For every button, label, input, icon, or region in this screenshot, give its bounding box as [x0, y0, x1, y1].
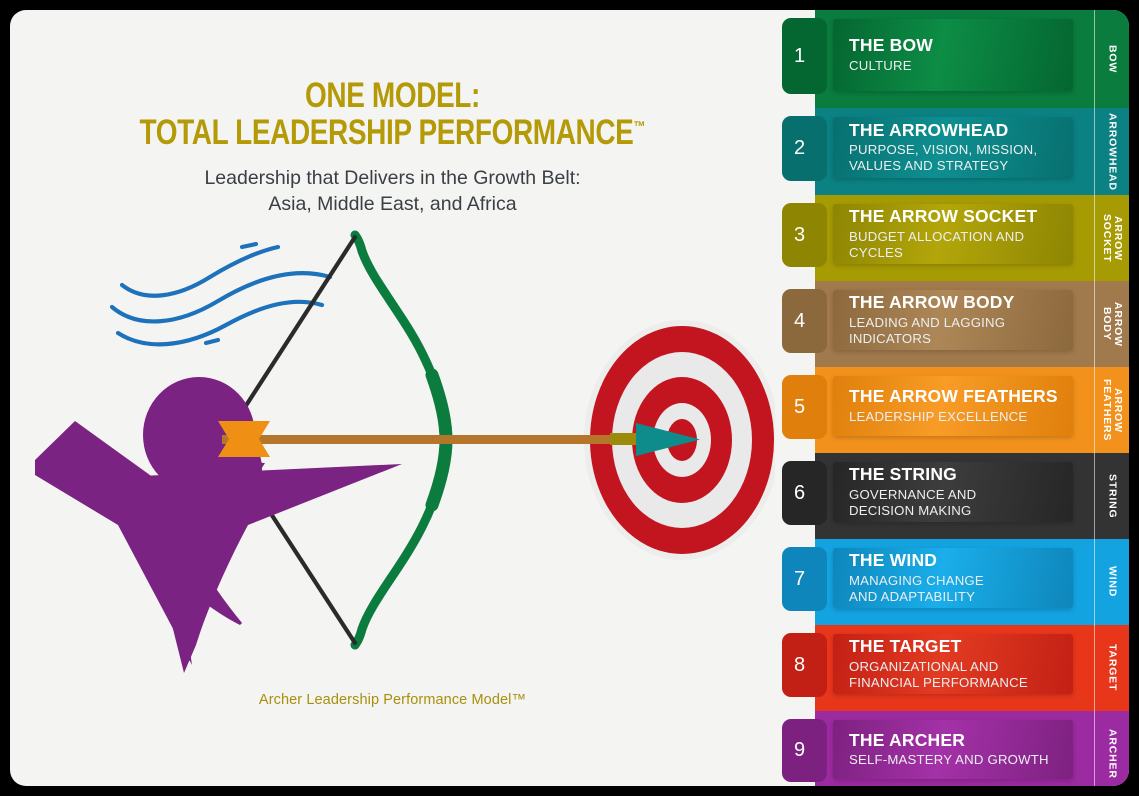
legend-number-label: 5: [794, 396, 805, 419]
legend-number-badge[interactable]: 3: [782, 203, 827, 267]
archer-illustration-svg: [10, 225, 775, 675]
legend-row[interactable]: 6THE STRINGGOVERNANCE ANDDECISION MAKING…: [815, 453, 1129, 539]
legend-text-panel: THE ARROW SOCKETBUDGET ALLOCATION AND CY…: [833, 204, 1073, 264]
legend-number-label: 4: [794, 310, 805, 333]
archer-illustration: [10, 225, 775, 675]
legend-side-label-text: ARCHER: [1106, 729, 1117, 779]
legend-text-panel: THE WINDMANAGING CHANGEAND ADAPTABILITY: [833, 548, 1073, 608]
legend-number-label: 6: [794, 482, 805, 505]
legend-side-label-text: WIND: [1106, 566, 1117, 597]
legend-number-label: 2: [794, 137, 805, 160]
legend-item-subtitle-line: LEADERSHIP EXCELLENCE: [849, 409, 1073, 425]
legend-side-label-text: ARROW FEATHERS: [1101, 379, 1123, 441]
legend-text-panel: THE TARGETORGANIZATIONAL ANDFINANCIAL PE…: [833, 634, 1073, 694]
illustration-pane: ONE MODEL: TOTAL LEADERSHIP PERFORMANCE™…: [10, 10, 775, 786]
legend-item-subtitle-line: VALUES AND STRATEGY: [849, 158, 1073, 174]
subtitle-line-one: Leadership that Delivers in the Growth B…: [10, 165, 775, 191]
legend-number-label: 7: [794, 568, 805, 591]
footer-caption: Archer Leadership Performance Model™: [10, 692, 775, 708]
legend-item-title: THE ARROW BODY: [849, 293, 1073, 313]
legend-item-subtitle-line: DECISION MAKING: [849, 503, 1073, 519]
legend-text-panel: THE ARROWHEADPURPOSE, VISION, MISSION,VA…: [833, 117, 1073, 178]
legend-row[interactable]: 4THE ARROW BODYLEADING AND LAGGING INDIC…: [815, 281, 1129, 367]
legend-item-title: THE ARROWHEAD: [849, 121, 1073, 141]
legend-number-label: 1: [794, 45, 805, 68]
legend-item-subtitle-line: FINANCIAL PERFORMANCE: [849, 675, 1073, 691]
legend-item-subtitle-line: CULTURE: [849, 58, 1073, 74]
legend-number-label: 3: [794, 224, 805, 247]
legend-row[interactable]: 2THE ARROWHEADPURPOSE, VISION, MISSION,V…: [815, 108, 1129, 195]
legend-number-badge[interactable]: 9: [782, 719, 827, 782]
legend-number-badge[interactable]: 8: [782, 633, 827, 697]
legend-item-title: THE TARGET: [849, 637, 1073, 657]
legend-text-panel: THE STRINGGOVERNANCE ANDDECISION MAKING: [833, 462, 1073, 522]
legend-side-label: ARROW SOCKET: [1095, 195, 1129, 281]
legend-item-subtitle: LEADING AND LAGGING INDICATORS: [849, 315, 1073, 347]
legend-side-label: BOW: [1095, 10, 1129, 108]
legend-side-label: ARROW BODY: [1095, 281, 1129, 367]
legend-side-label: TARGET: [1095, 625, 1129, 711]
legend-side-label-text: ARROWHEAD: [1106, 113, 1117, 191]
legend-item-subtitle-line: LEADING AND LAGGING INDICATORS: [849, 315, 1073, 347]
legend-item-subtitle-line: AND ADAPTABILITY: [849, 589, 1073, 605]
legend-item-subtitle: MANAGING CHANGEAND ADAPTABILITY: [849, 573, 1073, 605]
legend-number-label: 8: [794, 654, 805, 677]
subtitle-line-two: Asia, Middle East, and Africa: [10, 191, 775, 217]
legend-text-panel: THE BOWCULTURE: [833, 19, 1073, 91]
infographic-card: ONE MODEL: TOTAL LEADERSHIP PERFORMANCE™…: [10, 10, 1129, 786]
legend-number-badge[interactable]: 2: [782, 116, 827, 181]
legend-side-label: STRING: [1095, 453, 1129, 539]
legend-row[interactable]: 7THE WINDMANAGING CHANGEAND ADAPTABILITY…: [815, 539, 1129, 625]
legend-item-subtitle: LEADERSHIP EXCELLENCE: [849, 409, 1073, 425]
legend-number-badge[interactable]: 4: [782, 289, 827, 353]
legend-item-subtitle: CULTURE: [849, 58, 1073, 74]
legend-panel: 1THE BOWCULTUREBOW2THE ARROWHEADPURPOSE,…: [815, 10, 1129, 786]
title-line-one: ONE MODEL:: [87, 78, 699, 115]
page-subtitle: Leadership that Delivers in the Growth B…: [10, 165, 775, 218]
legend-side-label: WIND: [1095, 539, 1129, 625]
legend-item-title: THE ARROW FEATHERS: [849, 387, 1073, 407]
legend-item-subtitle-line: SELF-MASTERY AND GROWTH: [849, 752, 1073, 768]
legend-side-label: ARROW FEATHERS: [1095, 367, 1129, 453]
legend-item-subtitle-line: MANAGING CHANGE: [849, 573, 1073, 589]
legend-side-label-text: STRING: [1106, 474, 1117, 518]
legend-side-label-text: TARGET: [1106, 644, 1117, 691]
legend-row[interactable]: 8THE TARGETORGANIZATIONAL ANDFINANCIAL P…: [815, 625, 1129, 711]
legend-row[interactable]: 1THE BOWCULTUREBOW: [815, 10, 1129, 108]
legend-number-badge[interactable]: 7: [782, 547, 827, 611]
legend-item-title: THE WIND: [849, 551, 1073, 571]
legend-text-panel: THE ARROW FEATHERSLEADERSHIP EXCELLENCE: [833, 376, 1073, 436]
legend-item-title: THE ARROW SOCKET: [849, 207, 1073, 227]
legend-row[interactable]: 9THE ARCHERSELF-MASTERY AND GROWTHARCHER: [815, 711, 1129, 786]
legend-item-title: THE ARCHER: [849, 731, 1073, 751]
legend-item-subtitle-line: BUDGET ALLOCATION AND CYCLES: [849, 229, 1073, 261]
legend-item-subtitle: PURPOSE, VISION, MISSION,VALUES AND STRA…: [849, 142, 1073, 174]
legend-side-label-text: BOW: [1106, 45, 1117, 73]
legend-side-label-text: ARROW SOCKET: [1101, 214, 1123, 263]
infographic-canvas: ONE MODEL: TOTAL LEADERSHIP PERFORMANCE™…: [0, 0, 1139, 796]
legend-number-badge[interactable]: 1: [782, 18, 827, 94]
legend-item-subtitle-line: ORGANIZATIONAL AND: [849, 659, 1073, 675]
title-line-two: TOTAL LEADERSHIP PERFORMANCE™: [87, 115, 699, 152]
legend-item-subtitle: SELF-MASTERY AND GROWTH: [849, 752, 1073, 768]
legend-row[interactable]: 5THE ARROW FEATHERSLEADERSHIP EXCELLENCE…: [815, 367, 1129, 453]
legend-number-badge[interactable]: 6: [782, 461, 827, 525]
legend-text-panel: THE ARROW BODYLEADING AND LAGGING INDICA…: [833, 290, 1073, 350]
legend-number-badge[interactable]: 5: [782, 375, 827, 439]
legend-side-label: ARCHER: [1095, 711, 1129, 786]
legend-item-subtitle: BUDGET ALLOCATION AND CYCLES: [849, 229, 1073, 261]
title-trademark: ™: [633, 118, 645, 135]
legend-item-title: THE BOW: [849, 36, 1073, 56]
legend-item-subtitle: GOVERNANCE ANDDECISION MAKING: [849, 487, 1073, 519]
legend-item-subtitle-line: PURPOSE, VISION, MISSION,: [849, 142, 1073, 158]
legend-item-subtitle: ORGANIZATIONAL ANDFINANCIAL PERFORMANCE: [849, 659, 1073, 691]
legend-side-label-text: ARROW BODY: [1101, 302, 1123, 347]
legend-item-subtitle-line: GOVERNANCE AND: [849, 487, 1073, 503]
page-title: ONE MODEL: TOTAL LEADERSHIP PERFORMANCE™: [10, 78, 775, 152]
legend-item-title: THE STRING: [849, 465, 1073, 485]
legend-row[interactable]: 3THE ARROW SOCKETBUDGET ALLOCATION AND C…: [815, 195, 1129, 281]
title-line-two-text: TOTAL LEADERSHIP PERFORMANCE: [140, 113, 634, 152]
legend-side-label: ARROWHEAD: [1095, 108, 1129, 195]
legend-number-label: 9: [794, 739, 805, 762]
legend-text-panel: THE ARCHERSELF-MASTERY AND GROWTH: [833, 720, 1073, 779]
